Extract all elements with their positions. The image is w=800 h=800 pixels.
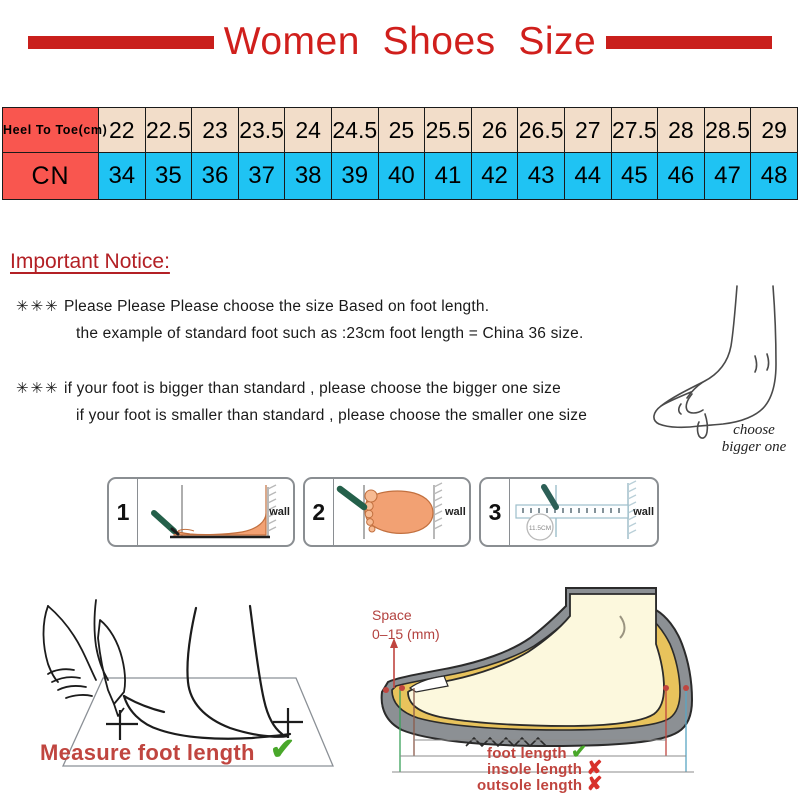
table-cell-cn: 43: [518, 153, 565, 200]
page-header: Women Shoes Size: [0, 18, 800, 66]
title-rule-right: [606, 36, 772, 49]
notice-paragraph-1: ✳✳✳Please Please Please choose the size …: [16, 293, 583, 347]
space-label: Space 0–15 (mm): [372, 606, 440, 644]
table-cell-cn: 44: [564, 153, 611, 200]
table-cell-cn: 46: [658, 153, 705, 200]
table-cell-cm: 29: [751, 108, 798, 153]
step-2-illustration: wall: [334, 479, 470, 545]
table-cell-cn: 40: [378, 153, 425, 200]
table-cell-cm: 23: [192, 108, 239, 153]
step-3-illustration: 11.5CM wall: [510, 479, 658, 545]
notice-1-line-2: the example of standard foot such as :23…: [16, 320, 583, 347]
table-cell-cm: 25: [378, 108, 425, 153]
space-label-line-2: 0–15 (mm): [372, 625, 440, 644]
page-title: Women Shoes Size: [224, 21, 596, 63]
table-cell-cm: 27.5: [611, 108, 658, 153]
check-mark-icon: ✔: [270, 735, 295, 765]
ruler-badge-text: 11.5CM: [529, 525, 551, 532]
wall-label-2: wall: [445, 506, 466, 518]
foot-sketch-caption: choose bigger one: [694, 422, 800, 456]
table-cell-cm: 26: [471, 108, 518, 153]
space-label-line-1: Space: [372, 606, 440, 625]
table-cell-cm: 23.5: [238, 108, 285, 153]
title-rule-left: [28, 36, 214, 49]
measuring-steps: 1 wall 2: [107, 477, 659, 547]
row-header-heel-to-toe: Heel To Toe(cm): [3, 108, 99, 153]
wall-label-1: wall: [269, 506, 290, 518]
step-number-3: 3: [481, 479, 510, 545]
notice-2-line-1: if your foot is bigger than standard , p…: [64, 380, 561, 397]
step-number-1: 1: [109, 479, 138, 545]
legend-outsole-length-label: outsole length: [477, 777, 582, 794]
notice-paragraph-2: ✳✳✳if your foot is bigger than standard …: [16, 375, 587, 429]
table-cell-cm: 24: [285, 108, 332, 153]
table-cell-cn: 47: [704, 153, 751, 200]
table-cell-cn: 45: [611, 153, 658, 200]
step-panel-2: 2 wall: [303, 477, 471, 547]
table-cell-cm: 28: [658, 108, 705, 153]
table-cell-cn: 35: [145, 153, 192, 200]
measure-foot-length-caption: Measure foot length: [40, 740, 255, 766]
table-cell-cn: 48: [751, 153, 798, 200]
table-cell-cn: 34: [99, 153, 146, 200]
step-panel-1: 1 wall: [107, 477, 295, 547]
row-header-cn: CN: [3, 153, 99, 200]
notice-2-line-2: if your foot is smaller than standard , …: [16, 402, 587, 429]
important-notice-heading: Important Notice:: [10, 250, 170, 274]
table-cell-cn: 39: [331, 153, 378, 200]
notice-1-line-1: Please Please Please choose the size Bas…: [64, 298, 489, 315]
table-cell-cn: 38: [285, 153, 332, 200]
table-cell-cm: 27: [564, 108, 611, 153]
table-row-cn: CN 34 35 36 37 38 39 40 41 42 43 44 45 4…: [3, 153, 798, 200]
table-row-heel-to-toe: Heel To Toe(cm) 22 22.5 23 23.5 24 24.5 …: [3, 108, 798, 153]
table-cell-cm: 25.5: [425, 108, 472, 153]
bullet-stars-icon: ✳✳✳: [16, 293, 64, 320]
table-cell-cn: 41: [425, 153, 472, 200]
foot-sketch-caption-line-2: bigger one: [694, 439, 800, 456]
legend-outsole-length: outsole length ✘: [477, 773, 603, 796]
step-panel-3: 3: [479, 477, 659, 547]
bullet-stars-icon: ✳✳✳: [16, 375, 64, 402]
foot-sketch-caption-line-1: choose: [694, 422, 800, 439]
table-cell-cn: 37: [238, 153, 285, 200]
table-cell-cm: 24.5: [331, 108, 378, 153]
table-cell-cn: 42: [471, 153, 518, 200]
row-header-cn-label: CN: [31, 162, 69, 190]
table-cell-cm: 22.5: [145, 108, 192, 153]
wall-label-3: wall: [633, 506, 654, 518]
size-conversion-table: Heel To Toe(cm) 22 22.5 23 23.5 24 24.5 …: [2, 107, 798, 200]
step-number-2: 2: [305, 479, 334, 545]
table-cell-cm: 28.5: [704, 108, 751, 153]
step-1-illustration: wall: [138, 479, 294, 545]
table-cell-cm: 26.5: [518, 108, 565, 153]
table-cell-cn: 36: [192, 153, 239, 200]
row-header-heel-to-toe-label: Heel To Toe(cm): [3, 123, 107, 137]
cross-mark-icon: ✘: [587, 774, 603, 795]
